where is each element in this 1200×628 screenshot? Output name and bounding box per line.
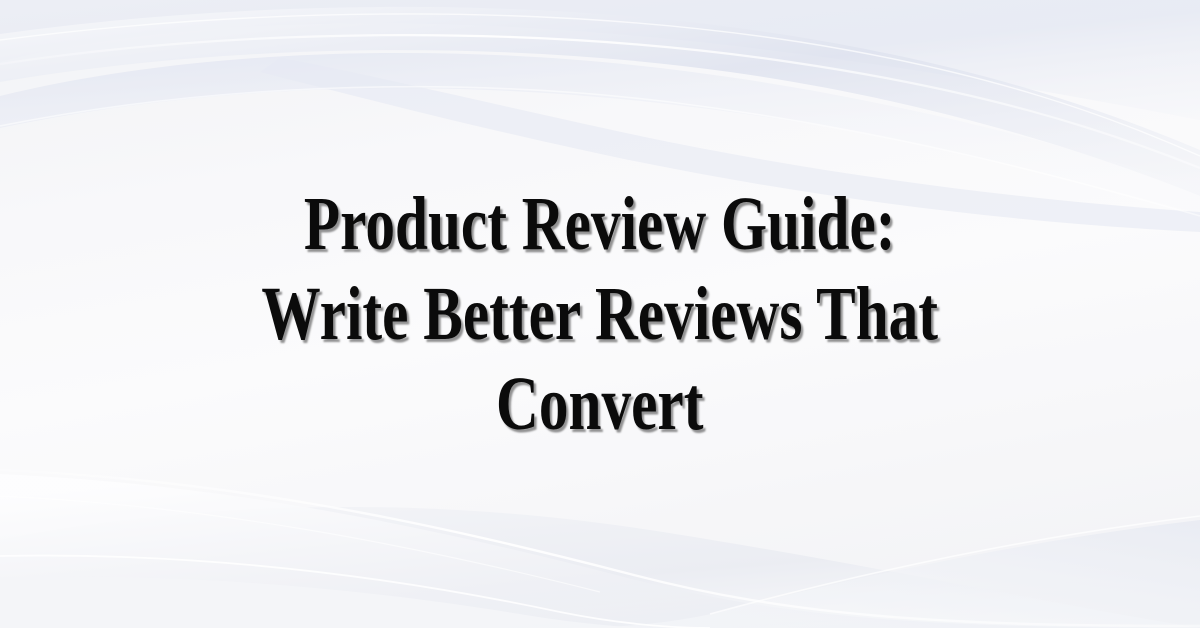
banner-canvas: Product Review Guide: Write Better Revie… [0,0,1200,628]
title-block: Product Review Guide: Write Better Revie… [0,0,1200,628]
page-title: Product Review Guide: Write Better Revie… [262,179,939,449]
